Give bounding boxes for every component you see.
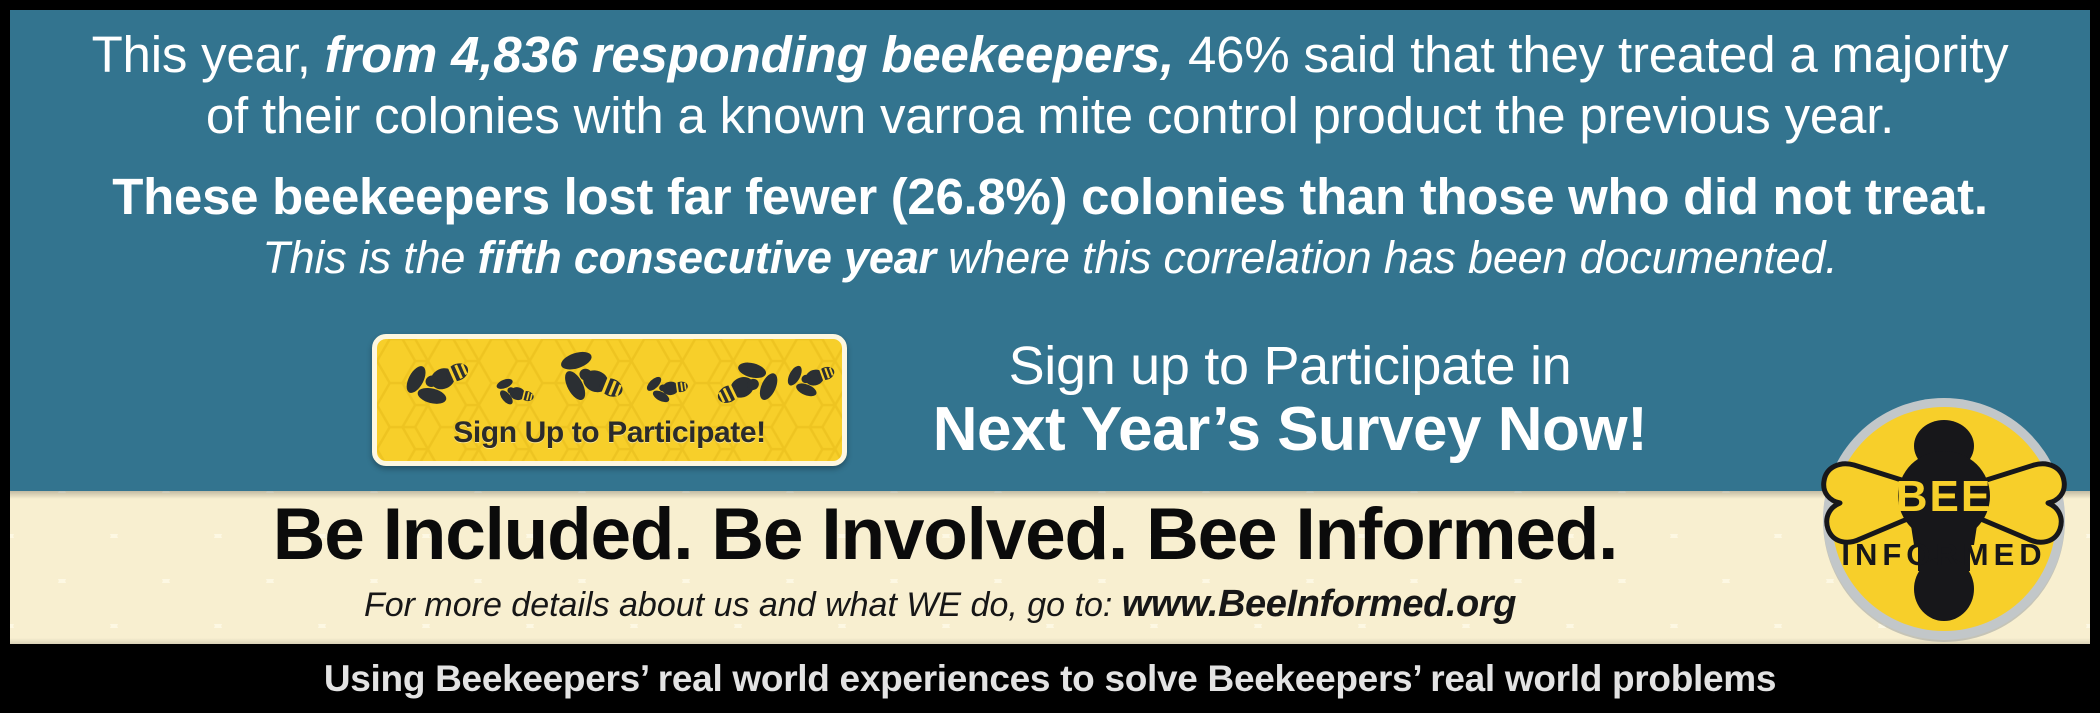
sign-up-to-participate-button[interactable]: Sign Up to Participate! [372,334,847,466]
details-line: For more details about us and what WE do… [10,583,1870,626]
subline-part1: This is the [262,232,477,283]
bottom-bar-text: Using Beekeepers’ real world experiences… [0,658,2100,700]
details-prefix: For more details about us and what WE do… [364,586,1122,624]
brand-tagline: Be Included. Be Involved. Bee Informed. [10,493,1880,576]
stat-part2: 46% said that they treated a majority [1174,26,2008,83]
subline-part2: where this correlation has been document… [936,232,1838,283]
stat-emphasis: from 4,836 responding beekeepers, [325,26,1174,83]
cta-line-2: Next Year’s Survey Now! [890,397,1690,463]
bottom-bar: Using Beekeepers’ real world experiences… [0,644,2100,713]
bee-informed-banner: This year, from 4,836 responding beekeep… [0,0,2100,713]
logo-bee-text: BEE [1896,472,1992,521]
survey-stat-line: This year, from 4,836 responding beekeep… [10,24,2090,146]
subline-emphasis: fifth consecutive year [478,232,936,283]
teal-panel: This year, from 4,836 responding beekeep… [10,10,2090,491]
stat-part1: This year, [92,26,325,83]
cream-panel: Be Included. Be Involved. Bee Informed. … [10,491,2090,644]
cta-line-1: Sign up to Participate in [890,336,1690,396]
subline-correlation: This is the fifth consecutive year where… [10,232,2090,284]
bee-informed-logo[interactable]: BEE INFORMED [1818,393,2070,645]
website-url-link[interactable]: www.BeeInformed.org [1122,583,1516,625]
cta-block: Sign up to Participate in Next Year’s Su… [890,336,1690,463]
bees-row-icon [377,345,842,419]
sign-up-button-label: Sign Up to Participate! [377,416,842,450]
stat-line2: of their colonies with a known varroa mi… [10,85,2090,146]
headline-loss: These beekeepers lost far fewer (26.8%) … [10,167,2090,226]
logo-informed-text: INFORMED [1841,537,2046,572]
